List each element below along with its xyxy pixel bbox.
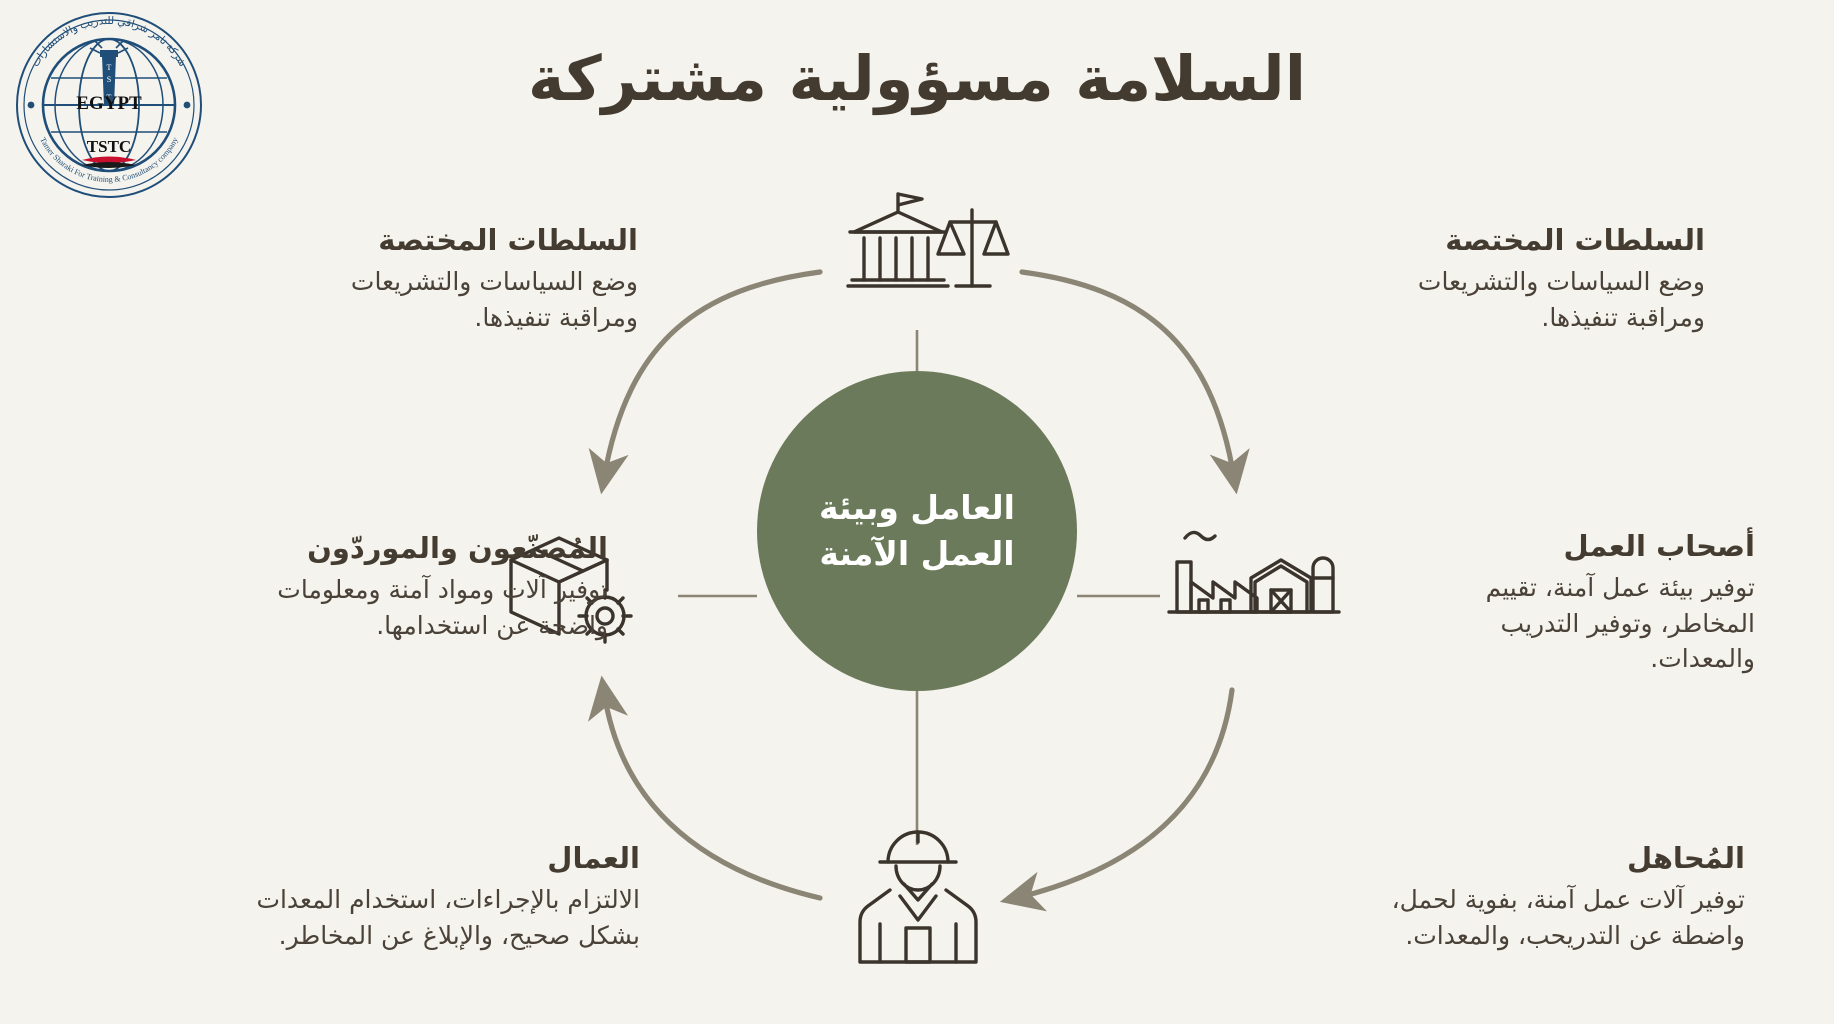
node-title: العمال (120, 840, 640, 876)
worker-helmet-icon (838, 828, 998, 972)
node-authority-right: السلطات المختصة وضع السياسات والتشريعات … (1185, 222, 1705, 335)
node-workers: العمال الالتزام بالإجراءات، استخدام المع… (120, 840, 640, 953)
node-contractors: المُحاهل توفير آلات عمل آمنة، بفوية لحمل… (1205, 840, 1745, 953)
node-body: توفير بيئة عمل آمنة، تقييم المخاطر، وتوف… (1230, 570, 1755, 677)
node-title: أصحاب العمل (1230, 528, 1755, 564)
page-title: السلامة مسؤولية مشتركة (0, 42, 1834, 115)
node-title: السلطات المختصة (118, 222, 638, 258)
node-employers: أصحاب العمل توفير بيئة عمل آمنة، تقييم ا… (1230, 528, 1755, 677)
node-title: المُصنّعون والموردّون (48, 530, 608, 566)
node-title: السلطات المختصة (1185, 222, 1705, 258)
central-hub-label: العامل وبيئة العمل الآمنة (819, 485, 1015, 576)
node-body: توفير آلات عمل آمنة، بفوية لحمل، واضطة ع… (1205, 882, 1745, 953)
arrow-contractor (1016, 690, 1232, 898)
node-suppliers: المُصنّعون والموردّون توفير آلات ومواد آ… (48, 530, 608, 643)
central-hub: العامل وبيئة العمل الآمنة (757, 371, 1077, 691)
node-body: توفير آلات ومواد آمنة ومعلومات واضحة عن … (48, 572, 608, 643)
node-body: الالتزام بالإجراءات، استخدام المعدات بشك… (120, 882, 640, 953)
node-title: المُحاهل (1205, 840, 1745, 876)
logo-acronym: TSTC (87, 137, 131, 156)
node-body: وضع السياسات والتشريعات ومراقبة تنفيذها. (118, 264, 638, 335)
node-authority-left: السلطات المختصة وضع السياسات والتشريعات … (118, 222, 638, 335)
node-body: وضع السياسات والتشريعات ومراقبة تنفيذها. (1185, 264, 1705, 335)
government-building-icon (840, 188, 1010, 322)
